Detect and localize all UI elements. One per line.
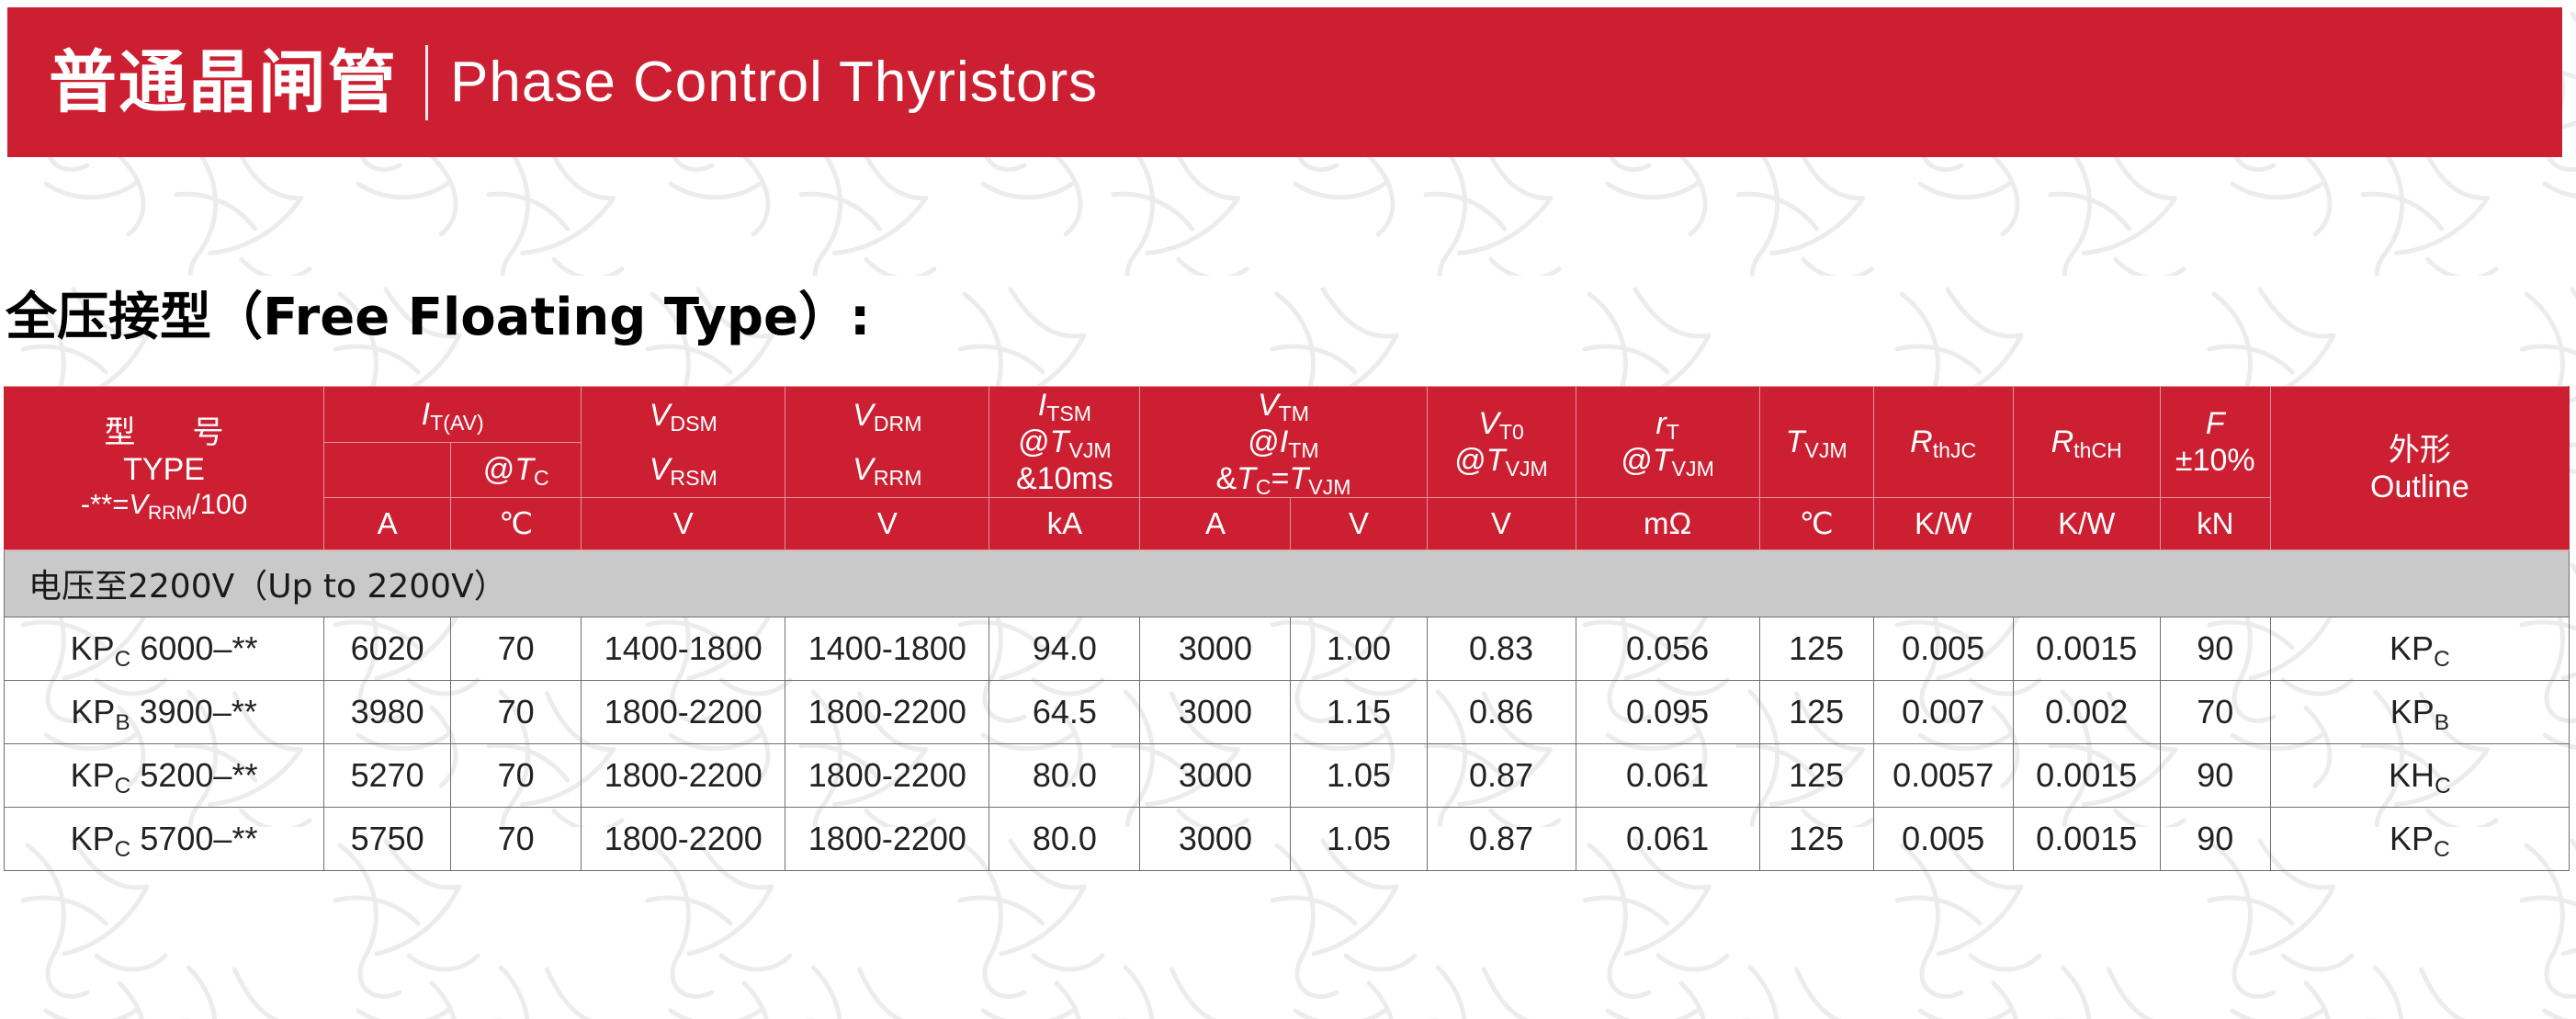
vdrm-sub: DRM bbox=[874, 412, 922, 436]
header-it-av: IT(AV) bbox=[324, 387, 582, 443]
cell-rt: 0.056 bbox=[1576, 617, 1759, 681]
cell-rthjc: 0.005 bbox=[1873, 617, 2013, 681]
cell-rt: 0.095 bbox=[1576, 681, 1759, 744]
cell-rt: 0.061 bbox=[1576, 744, 1759, 808]
vtm-cond-sub: TM bbox=[1288, 438, 1318, 462]
tvjm-var: T bbox=[1786, 425, 1805, 459]
rt-var: r bbox=[1655, 406, 1666, 441]
cell-vtm: 1.00 bbox=[1291, 617, 1427, 681]
vtm-tvjm-sub: VJM bbox=[1308, 475, 1350, 499]
header-at-tc: @TC bbox=[451, 442, 582, 498]
cell-type: KPC 5700–** bbox=[5, 808, 324, 871]
group-row: 电压至2200V（Up to 2200V） bbox=[5, 550, 2570, 617]
outline-prefix: KP bbox=[2390, 820, 2434, 857]
header-rthjc: RthJC bbox=[1873, 387, 2013, 498]
type-suffix: 3900–** bbox=[130, 693, 257, 730]
cell-vdrm: 1800-2200 bbox=[785, 681, 989, 744]
cell-outline: KPB bbox=[2270, 681, 2569, 744]
rthch-var: R bbox=[2051, 425, 2074, 459]
unit-it-av: A bbox=[324, 498, 451, 550]
cell-tc: 70 bbox=[451, 617, 582, 681]
cell-type: KPC 6000–** bbox=[5, 617, 324, 681]
header-it-av-blank bbox=[324, 442, 451, 498]
header-vdrm-vrrm: VDRM VRRM bbox=[785, 387, 989, 498]
cell-it-av: 5750 bbox=[324, 808, 451, 871]
outline-prefix: KH bbox=[2389, 756, 2435, 794]
rt-cond-sub: VJM bbox=[1672, 457, 1714, 481]
type-sub: C bbox=[115, 837, 131, 862]
cell-f: 70 bbox=[2160, 681, 2270, 744]
outline-en: Outline bbox=[2370, 470, 2469, 504]
at-tc-sub: C bbox=[534, 466, 549, 490]
unit-tc: ℃ bbox=[451, 498, 582, 550]
group-row-label: 电压至2200V（Up to 2200V） bbox=[5, 550, 2570, 617]
rt-sub: T bbox=[1666, 420, 1679, 444]
cell-outline: KPC bbox=[2270, 617, 2569, 681]
outline-sub: C bbox=[2435, 774, 2451, 798]
unit-itsm: kA bbox=[989, 498, 1140, 550]
tvjm-sub: VJM bbox=[1804, 438, 1847, 462]
vt0-sub: T0 bbox=[1499, 420, 1524, 444]
header-itsm: ITSM @TVJM &10ms bbox=[989, 387, 1140, 498]
cell-tc: 70 bbox=[451, 808, 582, 871]
vtm-tc-sub: C bbox=[1256, 475, 1271, 499]
type-suffix: 5200–** bbox=[130, 756, 257, 794]
type-sub: C bbox=[115, 647, 131, 672]
itsm-at: @ bbox=[1018, 425, 1050, 459]
header-type-line1: 型 号 bbox=[5, 414, 323, 451]
itsm-cond2: &10ms bbox=[989, 460, 1139, 497]
cell-vtm: 1.05 bbox=[1291, 744, 1427, 808]
cell-vt0: 0.87 bbox=[1427, 744, 1576, 808]
unit-f: kN bbox=[2160, 498, 2270, 550]
cell-tvjm: 125 bbox=[1759, 808, 1873, 871]
cell-vt0: 0.86 bbox=[1427, 681, 1576, 744]
cell-rthjc: 0.007 bbox=[1873, 681, 2013, 744]
banner-title-cn: 普通晶闸管 bbox=[49, 49, 398, 117]
vrrm-sub: RRM bbox=[874, 466, 922, 490]
table-row: KPC 5200–**5270701800-22001800-220080.03… bbox=[5, 744, 2570, 808]
itsm-cond-sub: VJM bbox=[1068, 438, 1111, 462]
rthjc-var: R bbox=[1910, 425, 1933, 459]
cell-tc: 70 bbox=[451, 681, 582, 744]
outline-prefix: KP bbox=[2390, 629, 2434, 667]
type-suffix: 5700–** bbox=[130, 820, 257, 857]
cell-itsm: 80.0 bbox=[989, 744, 1140, 808]
vt0-cond-sub: VJM bbox=[1506, 457, 1548, 481]
specification-table: 型 号 TYPE -**=VRRM/100 IT(AV) VDSM VRSM V… bbox=[4, 386, 2570, 871]
table-row: KPB 3900–**3980701800-22001800-220064.53… bbox=[5, 681, 2570, 744]
cell-rthch: 0.0015 bbox=[2013, 744, 2160, 808]
unit-rt: mΩ bbox=[1576, 498, 1759, 550]
type-prefix: KP bbox=[71, 756, 115, 794]
cell-itsm: 80.0 bbox=[989, 808, 1140, 871]
cell-tvjm: 125 bbox=[1759, 681, 1873, 744]
type-sub: B bbox=[115, 710, 130, 735]
cell-it-av: 6020 bbox=[324, 617, 451, 681]
header-row-units: A ℃ V V kA A V V mΩ ℃ K/W K/W kN bbox=[5, 498, 2570, 550]
rthch-sub: thCH bbox=[2073, 438, 2122, 462]
table-row: KPC 6000–**6020701400-18001400-180094.03… bbox=[5, 617, 2570, 681]
cell-f: 90 bbox=[2160, 617, 2270, 681]
type-prefix: KP bbox=[71, 629, 115, 667]
vtm-at: @ bbox=[1248, 425, 1280, 459]
cell-rthch: 0.0015 bbox=[2013, 617, 2160, 681]
cell-vtm: 1.15 bbox=[1291, 681, 1427, 744]
type-prefix: KP bbox=[71, 693, 115, 730]
vrsm-var: V bbox=[650, 452, 671, 487]
vdsm-sub: DSM bbox=[670, 412, 717, 436]
cell-f: 90 bbox=[2160, 744, 2270, 808]
cell-rthjc: 0.0057 bbox=[1873, 744, 2013, 808]
type-line3-suffix: /100 bbox=[192, 488, 247, 520]
cell-tvjm: 125 bbox=[1759, 744, 1873, 808]
type-suffix: 6000–** bbox=[130, 629, 257, 667]
header-outline: 外形 Outline bbox=[2270, 387, 2569, 550]
cell-type: KPB 3900–** bbox=[5, 681, 324, 744]
cell-rthjc: 0.005 bbox=[1873, 808, 2013, 871]
at-tc-var: T bbox=[514, 452, 534, 487]
vrrm-var: V bbox=[853, 452, 874, 487]
header-vtm: VTM @ITM &TC=TVJM bbox=[1140, 387, 1427, 498]
type-line3-prefix: -**= bbox=[81, 488, 130, 520]
outline-prefix: KP bbox=[2390, 693, 2435, 730]
unit-vt0: V bbox=[1427, 498, 1576, 550]
cell-vt0: 0.87 bbox=[1427, 808, 1576, 871]
cell-vdsm: 1800-2200 bbox=[582, 744, 785, 808]
header-row-symbols: 型 号 TYPE -**=VRRM/100 IT(AV) VDSM VRSM V… bbox=[5, 387, 2570, 443]
vrsm-sub: RSM bbox=[670, 466, 717, 490]
cell-vdsm: 1800-2200 bbox=[582, 808, 785, 871]
cell-vdrm: 1400-1800 bbox=[785, 617, 989, 681]
banner-title-en: Phase Control Thyristors bbox=[450, 54, 1098, 111]
outline-sub: C bbox=[2434, 647, 2450, 672]
cell-rthch: 0.0015 bbox=[2013, 808, 2160, 871]
cell-vt0: 0.83 bbox=[1427, 617, 1576, 681]
vt0-at: @ bbox=[1454, 443, 1486, 478]
header-rt: rT @TVJM bbox=[1576, 387, 1759, 498]
outline-cn: 外形 bbox=[2271, 432, 2569, 469]
cell-outline: KPC bbox=[2270, 808, 2569, 871]
cell-vdsm: 1800-2200 bbox=[582, 681, 785, 744]
rt-at: @ bbox=[1621, 443, 1653, 478]
unit-tvjm: ℃ bbox=[1759, 498, 1873, 550]
cell-itm: 3000 bbox=[1140, 617, 1291, 681]
cell-itm: 3000 bbox=[1140, 744, 1291, 808]
outline-sub: B bbox=[2435, 710, 2449, 735]
vt0-var: V bbox=[1478, 406, 1499, 441]
cell-rthch: 0.002 bbox=[2013, 681, 2160, 744]
cell-it-av: 3980 bbox=[324, 681, 451, 744]
header-type: 型 号 TYPE -**=VRRM/100 bbox=[5, 387, 324, 550]
header-vt0: VT0 @TVJM bbox=[1427, 387, 1576, 498]
cell-rt: 0.061 bbox=[1576, 808, 1759, 871]
section-title: 全压接型（Free Floating Type）: bbox=[6, 292, 870, 344]
header-type-line3: -**=VRRM/100 bbox=[5, 488, 323, 522]
cell-vdsm: 1400-1800 bbox=[582, 617, 785, 681]
vtm-var: V bbox=[1258, 388, 1279, 423]
vtm-sub: TM bbox=[1279, 402, 1309, 425]
vtm-eq: = bbox=[1271, 461, 1290, 496]
vdsm-var: V bbox=[650, 398, 671, 433]
cell-tc: 70 bbox=[451, 744, 582, 808]
cell-tvjm: 125 bbox=[1759, 617, 1873, 681]
unit-rthjc: K/W bbox=[1873, 498, 2013, 550]
itsm-var: I bbox=[1038, 388, 1046, 423]
cell-type: KPC 5200–** bbox=[5, 744, 324, 808]
table-row: KPC 5700–**5750701800-22001800-220080.03… bbox=[5, 808, 2570, 871]
type-line3-sub: RRM bbox=[148, 503, 192, 524]
table-body: 电压至2200V（Up to 2200V） KPC 6000–**6020701… bbox=[5, 550, 2570, 871]
cell-f: 90 bbox=[2160, 808, 2270, 871]
cell-itm: 3000 bbox=[1140, 808, 1291, 871]
unit-rthch: K/W bbox=[2013, 498, 2160, 550]
it-av-sub: T(AV) bbox=[430, 411, 484, 435]
type-line3-var: V bbox=[129, 488, 148, 520]
cell-outline: KHC bbox=[2270, 744, 2569, 808]
f-var: F bbox=[2206, 406, 2225, 441]
it-av-var: I bbox=[422, 397, 430, 432]
page-banner: 普通晶闸管 Phase Control Thyristors bbox=[7, 7, 2562, 157]
header-tvjm: TVJM bbox=[1759, 387, 1873, 498]
header-rthch: RthCH bbox=[2013, 387, 2160, 498]
cell-itsm: 94.0 bbox=[989, 617, 1140, 681]
unit-vdsm: V bbox=[582, 498, 785, 550]
header-f: F ±10% bbox=[2160, 387, 2270, 498]
type-sub: C bbox=[115, 774, 131, 798]
f-tolerance: ±10% bbox=[2161, 442, 2270, 479]
at-tc-prefix: @ bbox=[483, 452, 515, 487]
banner-divider bbox=[425, 45, 428, 120]
outline-sub: C bbox=[2434, 837, 2450, 862]
header-type-line2: TYPE bbox=[5, 451, 323, 488]
section-title-text: 全压接型（Free Floating Type）: bbox=[6, 288, 870, 347]
cell-vdrm: 1800-2200 bbox=[785, 744, 989, 808]
cell-itm: 3000 bbox=[1140, 681, 1291, 744]
unit-vdrm: V bbox=[785, 498, 989, 550]
rthjc-sub: thJC bbox=[1933, 438, 1977, 462]
unit-vtm: V bbox=[1291, 498, 1427, 550]
cell-itsm: 64.5 bbox=[989, 681, 1140, 744]
type-prefix: KP bbox=[71, 820, 115, 857]
vtm-amp: & bbox=[1215, 461, 1237, 496]
unit-itm: A bbox=[1140, 498, 1291, 550]
header-vdsm-vrsm: VDSM VRSM bbox=[582, 387, 785, 498]
itsm-sub: TSM bbox=[1046, 402, 1091, 425]
vdrm-var: V bbox=[853, 398, 874, 433]
cell-it-av: 5270 bbox=[324, 744, 451, 808]
table-header: 型 号 TYPE -**=VRRM/100 IT(AV) VDSM VRSM V… bbox=[5, 387, 2570, 550]
cell-vdrm: 1800-2200 bbox=[785, 808, 989, 871]
cell-vtm: 1.05 bbox=[1291, 808, 1427, 871]
